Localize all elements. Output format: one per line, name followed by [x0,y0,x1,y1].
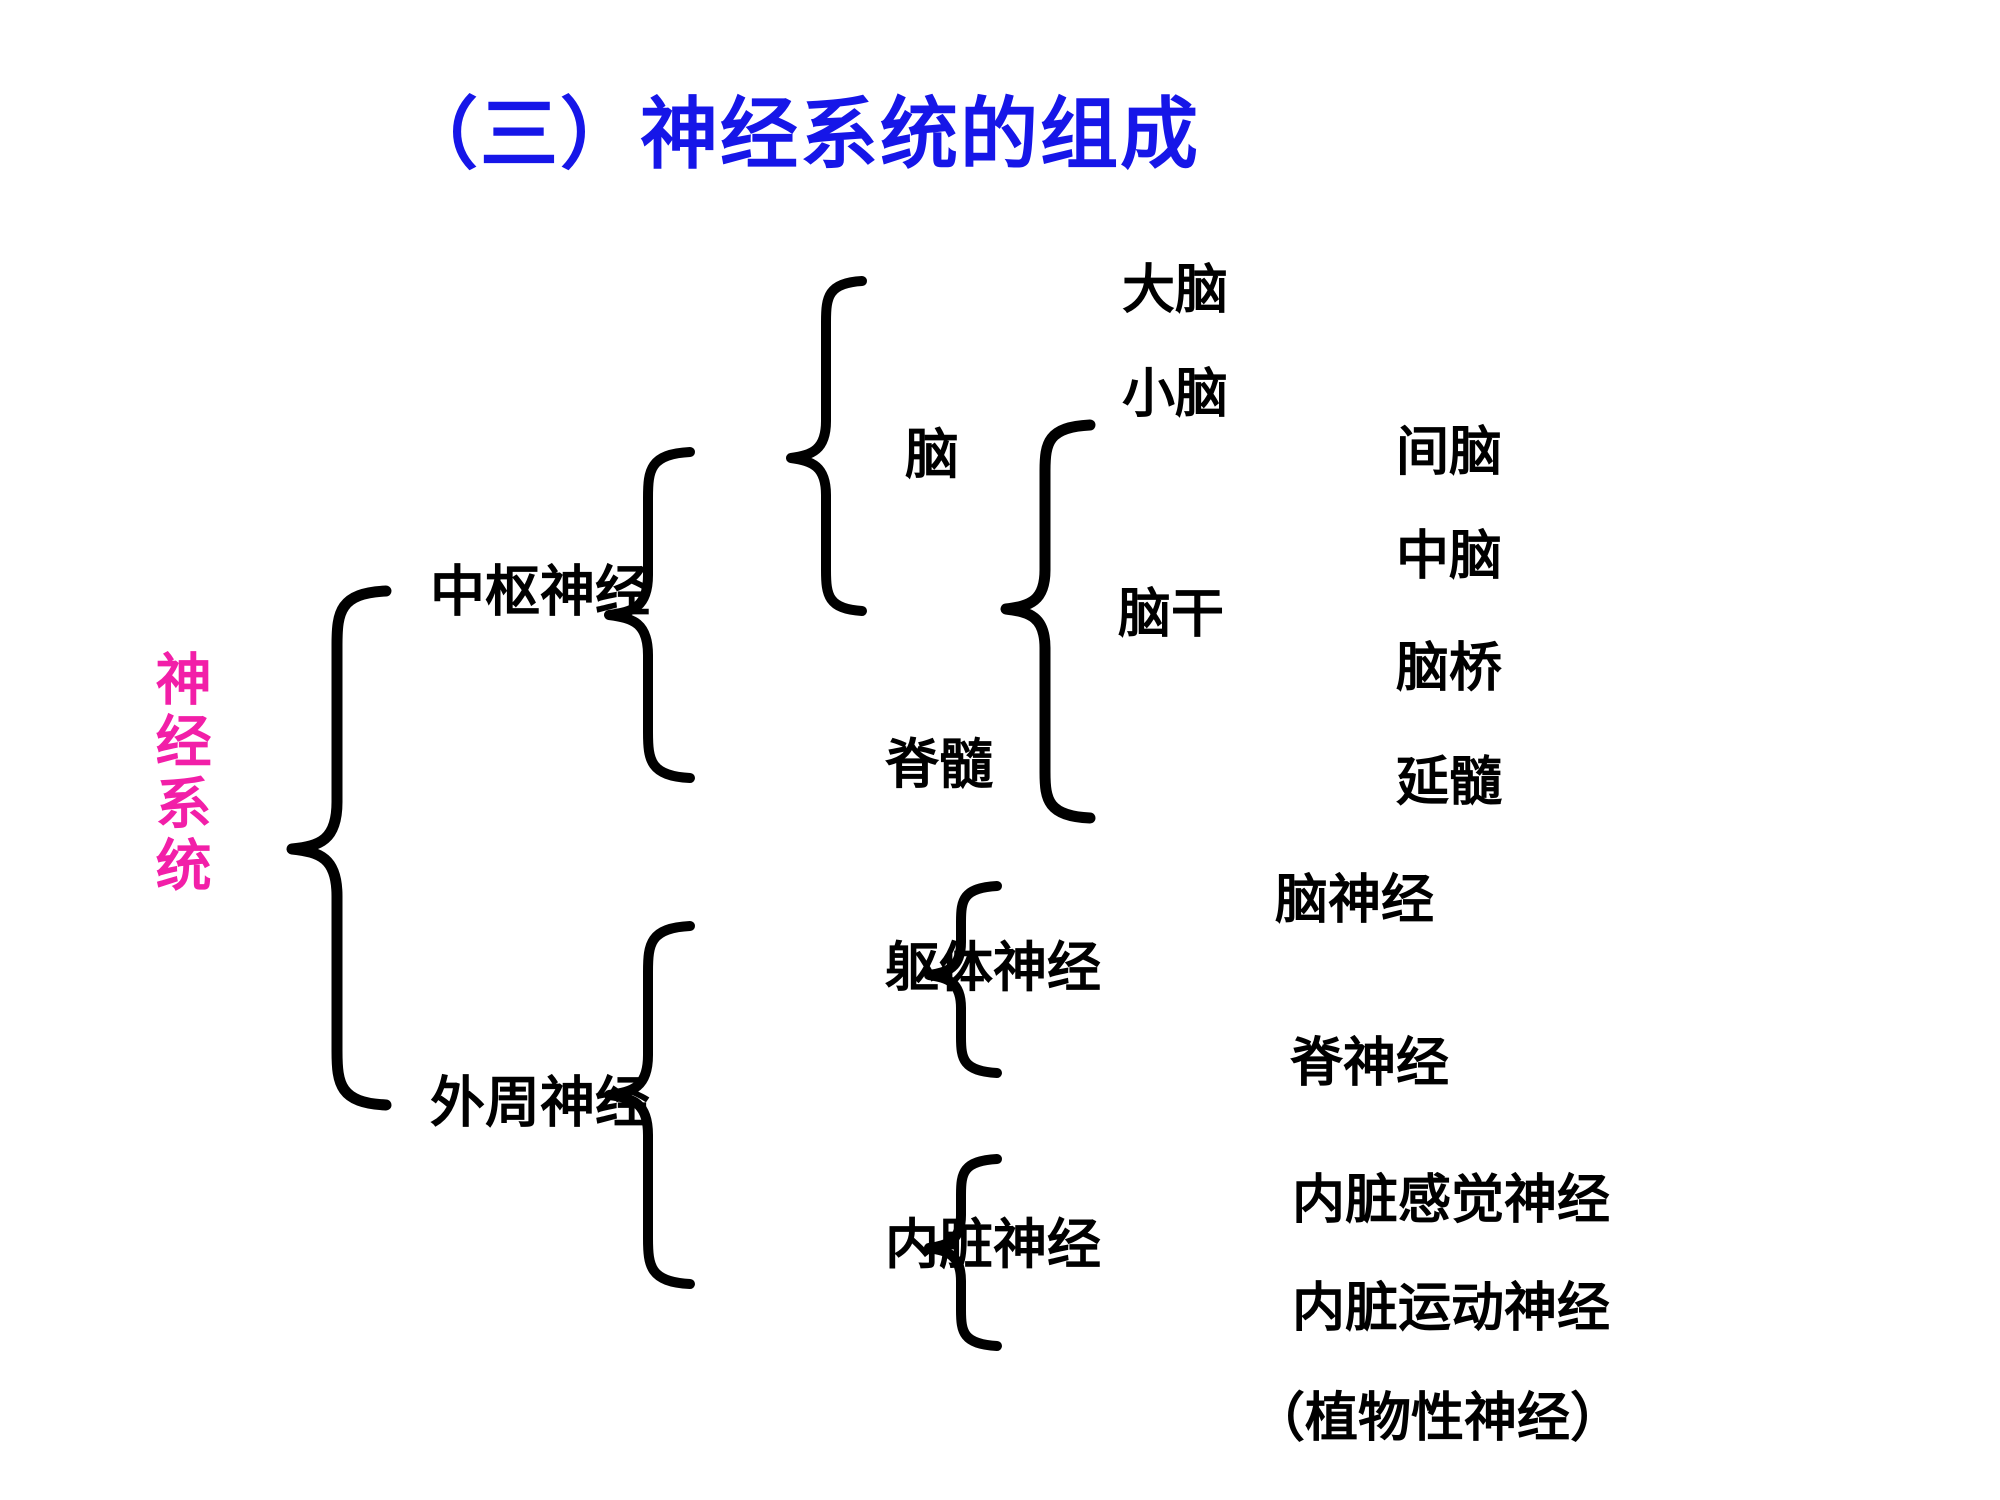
node-central-nervous-system: 中枢神经 [430,565,650,620]
node-peripheral-nervous-system: 外周神经 [430,1076,650,1131]
node-somatic-nervous: 躯体神经 [885,941,1101,995]
node-cerebellum: 小脑 [1122,368,1228,421]
node-medulla-oblongata: 延髓 [1396,756,1502,809]
node-visceral-motor-nerves: 内脏运动神经 [1292,1282,1610,1335]
node-spinal-cord: 脊髓 [885,738,993,792]
brace-root [292,591,386,1105]
node-midbrain: 中脑 [1396,530,1502,583]
node-cranial-nerves: 脑神经 [1275,874,1434,927]
root-node-nervous-system: 神经系统 [150,650,207,898]
brace-brainstem [1006,425,1090,818]
node-brain: 脑 [905,428,959,482]
node-visceral-sensory-nerves: 内脏感觉神经 [1292,1174,1610,1227]
node-diencephalon: 间脑 [1396,426,1502,479]
node-visceral-nervous: 内脏神经 [885,1218,1101,1272]
slide-canvas: （三）神经系统的组成 神经系统 中枢神经 外周神经 脑 脊髓 躯体神经 内脏神经… [0,0,2000,1500]
page-title: （三）神经系统的组成 [0,96,1600,174]
node-brainstem: 脑干 [1118,588,1224,641]
node-pons: 脑桥 [1396,642,1502,695]
note-autonomic-nervous-system: （植物性神经） [1252,1392,1623,1445]
brace-brain [791,281,862,611]
node-spinal-nerves: 脊神经 [1290,1037,1449,1090]
node-cerebrum: 大脑 [1122,264,1228,317]
